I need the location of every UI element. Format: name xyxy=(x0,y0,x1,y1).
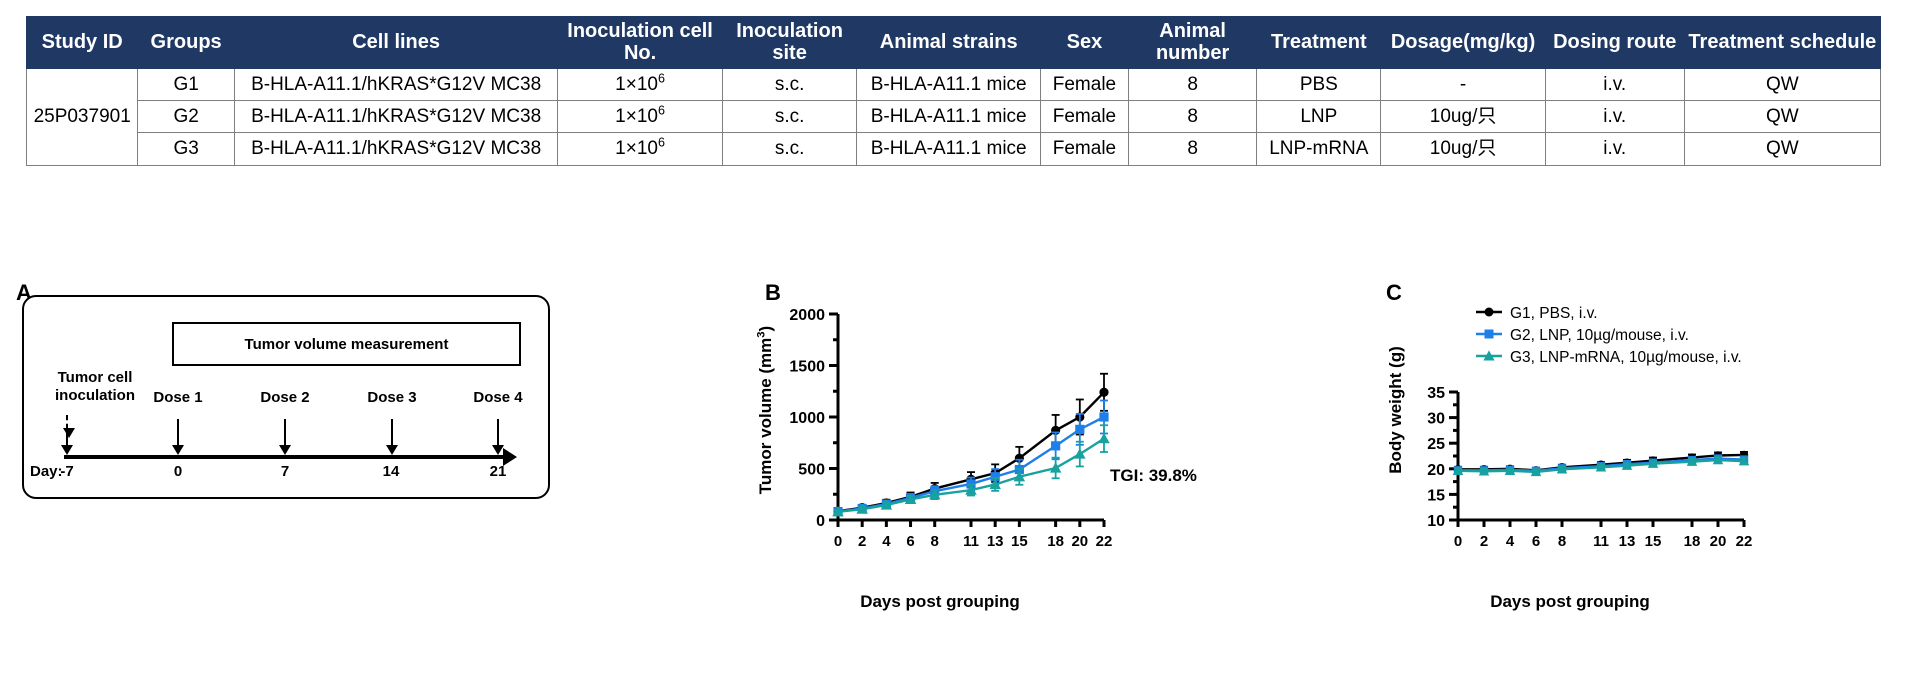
col-study-id: Study ID xyxy=(27,17,138,69)
x-tick-label: 22 xyxy=(1736,533,1753,550)
x-tick-label: 6 xyxy=(1532,533,1540,550)
timeline-arrow-4 xyxy=(497,419,499,446)
cell-dosing-route: i.v. xyxy=(1545,133,1684,165)
x-tick-label: 15 xyxy=(1645,533,1662,550)
y-tick-label: 1500 xyxy=(789,359,825,376)
cell-study-id: 25P037901 xyxy=(27,68,138,165)
col-sex: Sex xyxy=(1040,17,1128,69)
data-marker xyxy=(1050,462,1062,472)
col-animal-number: Animal number xyxy=(1128,17,1256,69)
body-weight-plot: 10152025303502468111315182022G1, PBS, i.… xyxy=(1380,300,1760,560)
x-tick-label: 0 xyxy=(834,533,842,550)
timeline-event-label-4: Dose 4 xyxy=(458,389,538,407)
col-groups: Groups xyxy=(138,17,235,69)
x-tick-label: 2 xyxy=(1480,533,1488,550)
y-tick-label: 25 xyxy=(1427,436,1445,453)
col-dosage: Dosage(mg/kg) xyxy=(1381,17,1545,69)
cell-cell-line: B-HLA-A11.1/hKRAS*G12V MC38 xyxy=(234,101,557,133)
x-tick-label: 11 xyxy=(963,533,979,550)
col-animal-strains: Animal strains xyxy=(857,17,1040,69)
data-marker xyxy=(1485,308,1494,317)
y-tick-label: 10 xyxy=(1427,513,1445,530)
cell-inoculation-site: s.c. xyxy=(722,101,857,133)
table-row: G3 B-HLA-A11.1/hKRAS*G12V MC38 1×106 s.c… xyxy=(27,133,1881,165)
tumor-volume-plot: 050010001500200002468111315182022 xyxy=(760,300,1120,560)
cell-sex: Female xyxy=(1040,133,1128,165)
timeline-event-label-3: Dose 3 xyxy=(352,389,432,407)
table-row: 25P037901 G1 B-HLA-A11.1/hKRAS*G12V MC38… xyxy=(27,68,1881,100)
timeline-event-label-0: Tumor cell inoculation xyxy=(40,369,150,406)
y-tick-label: 35 xyxy=(1427,385,1445,402)
cell-animal-strain: B-HLA-A11.1 mice xyxy=(857,101,1040,133)
cell-dosage: 10ug/只 xyxy=(1381,133,1545,165)
inoc-exponent: 6 xyxy=(658,104,665,118)
x-tick-label: 8 xyxy=(1558,533,1566,550)
y-tick-label: 15 xyxy=(1427,487,1445,504)
cell-treatment: PBS xyxy=(1257,68,1381,100)
chart-c-x-axis-title: Days post grouping xyxy=(1430,592,1710,612)
timeline-axis-arrow xyxy=(64,455,504,459)
x-tick-label: 15 xyxy=(1011,533,1028,550)
y-tick-label: 20 xyxy=(1427,462,1445,479)
x-tick-label: 0 xyxy=(1454,533,1462,550)
cell-treatment-schedule: QW xyxy=(1684,101,1880,133)
cell-dosing-route: i.v. xyxy=(1545,68,1684,100)
inoc-value: 1×10 xyxy=(615,138,658,159)
tumor-volume-chart: 050010001500200002468111315182022 xyxy=(760,300,1120,560)
timeline-arrow-3 xyxy=(391,419,393,446)
inoc-exponent: 6 xyxy=(658,71,665,85)
y-tick-label: 0 xyxy=(816,513,825,530)
cell-sex: Female xyxy=(1040,101,1128,133)
body-weight-chart: 10152025303502468111315182022G1, PBS, i.… xyxy=(1380,300,1760,560)
cell-group: G2 xyxy=(138,101,235,133)
cell-group: G1 xyxy=(138,68,235,100)
col-inoculation-cell-no: Inoculation cell No. xyxy=(558,17,722,69)
cell-dosage: - xyxy=(1381,68,1545,100)
x-tick-label: 4 xyxy=(882,533,891,550)
inoc-value: 1×10 xyxy=(615,106,658,127)
col-treatment: Treatment xyxy=(1257,17,1381,69)
cell-animal-number: 8 xyxy=(1128,101,1256,133)
timeline-day-value-1: 0 xyxy=(158,463,198,480)
x-tick-label: 6 xyxy=(906,533,914,550)
cell-animal-strain: B-HLA-A11.1 mice xyxy=(857,68,1040,100)
legend-label: G2, LNP, 10µg/mouse, i.v. xyxy=(1510,327,1689,344)
x-tick-label: 18 xyxy=(1684,533,1701,550)
data-marker xyxy=(1485,330,1494,339)
cell-treatment: LNP-mRNA xyxy=(1257,133,1381,165)
timeline-arrow-0 xyxy=(66,432,68,446)
col-dosing-route: Dosing route xyxy=(1545,17,1684,69)
cell-animal-number: 8 xyxy=(1128,133,1256,165)
cell-dosing-route: i.v. xyxy=(1545,101,1684,133)
chart-b-x-axis-title: Days post grouping xyxy=(800,592,1080,612)
y-tick-label: 30 xyxy=(1427,411,1445,428)
timeline-day-value-4: 21 xyxy=(478,463,518,480)
timeline-event-label-2: Dose 2 xyxy=(245,389,325,407)
data-marker xyxy=(1098,433,1110,443)
study-design-table: Study ID Groups Cell lines Inoculation c… xyxy=(26,16,1881,166)
col-treatment-schedule: Treatment schedule xyxy=(1684,17,1880,69)
cell-group: G3 xyxy=(138,133,235,165)
timeline-arrow-2 xyxy=(284,419,286,446)
cell-sex: Female xyxy=(1040,68,1128,100)
timeline-event-label-1: Dose 1 xyxy=(138,389,218,407)
x-tick-label: 22 xyxy=(1096,533,1113,550)
x-tick-label: 20 xyxy=(1071,533,1088,550)
data-marker xyxy=(1074,448,1086,458)
table-header-row: Study ID Groups Cell lines Inoculation c… xyxy=(27,17,1881,69)
timeline-day-value-0: -7 xyxy=(47,463,87,480)
data-marker xyxy=(1075,425,1084,434)
cell-treatment: LNP xyxy=(1257,101,1381,133)
cell-inoculation-site: s.c. xyxy=(722,133,857,165)
timeline-arrow-dashed-0 xyxy=(66,415,68,429)
data-marker xyxy=(1099,412,1108,421)
col-cell-lines: Cell lines xyxy=(234,17,557,69)
cell-inoculation-cell-no: 1×106 xyxy=(558,133,722,165)
y-tick-label: 1000 xyxy=(789,410,825,427)
x-tick-label: 20 xyxy=(1710,533,1727,550)
x-tick-label: 8 xyxy=(931,533,939,550)
cell-inoculation-site: s.c. xyxy=(722,68,857,100)
cell-treatment-schedule: QW xyxy=(1684,68,1880,100)
chart-b-y-axis-title: Tumor volume (mm3) xyxy=(756,300,776,520)
x-tick-label: 13 xyxy=(987,533,1004,550)
cell-animal-number: 8 xyxy=(1128,68,1256,100)
x-tick-label: 2 xyxy=(858,533,866,550)
y-tick-label: 500 xyxy=(798,462,825,479)
cell-animal-strain: B-HLA-A11.1 mice xyxy=(857,133,1040,165)
timeline-day-value-2: 7 xyxy=(265,463,305,480)
chart-c-y-axis-title: Body weight (g) xyxy=(1386,300,1406,520)
timeline-arrow-1 xyxy=(177,419,179,446)
x-tick-label: 11 xyxy=(1593,533,1609,550)
legend-label: G3, LNP-mRNA, 10µg/mouse, i.v. xyxy=(1510,349,1742,366)
chart-b-tgi-annotation: TGI: 39.8% xyxy=(1110,466,1197,486)
tumor-volume-measurement-box: Tumor volume measurement xyxy=(172,322,521,366)
cell-treatment-schedule: QW xyxy=(1684,133,1880,165)
x-tick-label: 18 xyxy=(1047,533,1064,550)
x-tick-label: 4 xyxy=(1506,533,1515,550)
inoc-value: 1×10 xyxy=(615,74,658,95)
cell-dosage: 10ug/只 xyxy=(1381,101,1545,133)
data-marker xyxy=(1051,441,1060,450)
cell-cell-line: B-HLA-A11.1/hKRAS*G12V MC38 xyxy=(234,68,557,100)
cell-inoculation-cell-no: 1×106 xyxy=(558,101,722,133)
table-row: G2 B-HLA-A11.1/hKRAS*G12V MC38 1×106 s.c… xyxy=(27,101,1881,133)
cell-cell-line: B-HLA-A11.1/hKRAS*G12V MC38 xyxy=(234,133,557,165)
x-tick-label: 13 xyxy=(1619,533,1636,550)
timeline-day-value-3: 14 xyxy=(371,463,411,480)
data-marker xyxy=(1099,388,1108,397)
cell-inoculation-cell-no: 1×106 xyxy=(558,68,722,100)
y-tick-label: 2000 xyxy=(789,307,825,324)
legend-label: G1, PBS, i.v. xyxy=(1510,305,1598,322)
col-inoculation-site: Inoculation site xyxy=(722,17,857,69)
inoc-exponent: 6 xyxy=(658,136,665,150)
